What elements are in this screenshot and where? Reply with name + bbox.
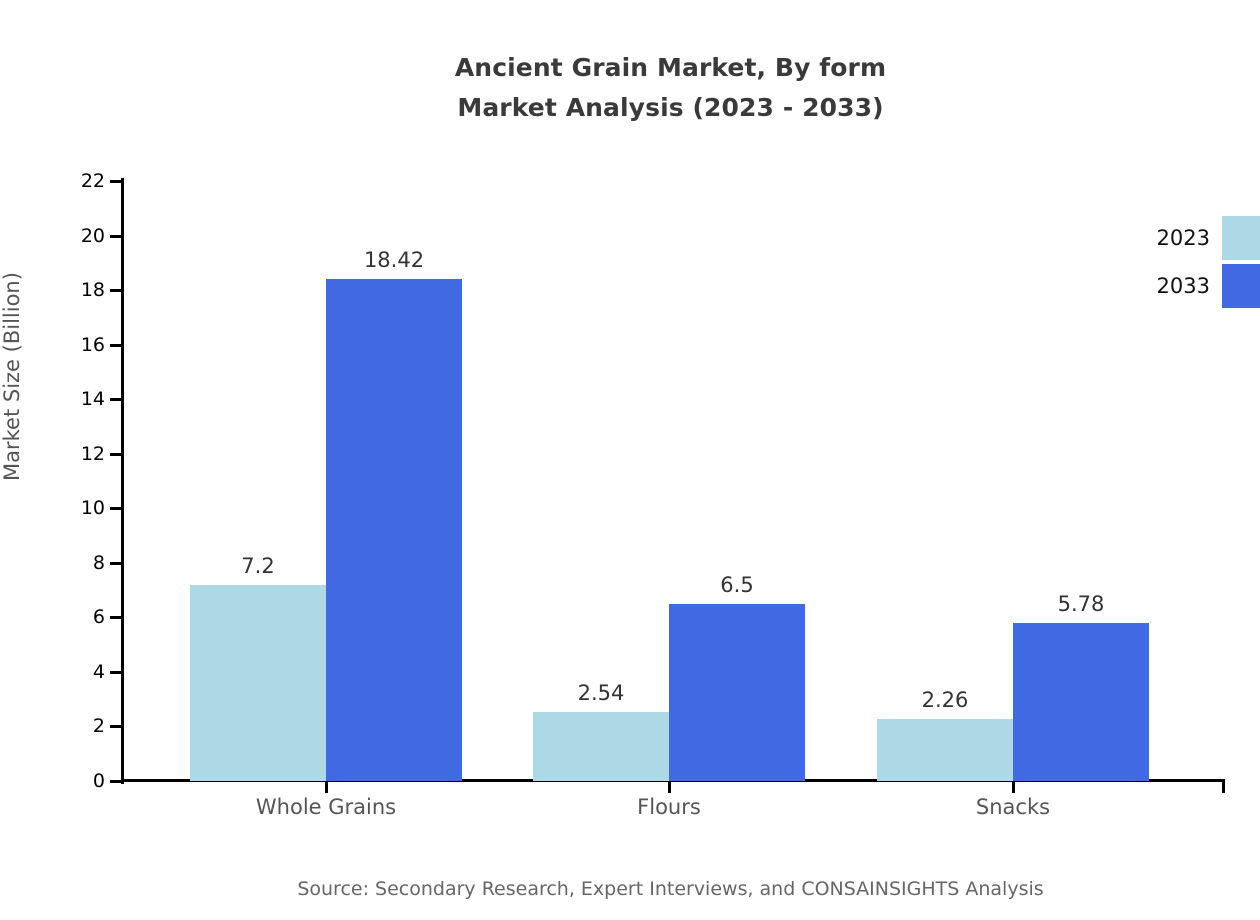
x-axis-end-tick <box>1222 782 1225 793</box>
y-axis-tick <box>110 562 121 565</box>
bar-2023-whole-grains[interactable] <box>190 585 326 781</box>
legend-swatch-2033 <box>1222 264 1260 308</box>
y-axis-tick-label: 6 <box>0 606 105 628</box>
chart-title-line-2: Market Analysis (2023 - 2033) <box>0 88 1260 128</box>
x-axis-category-label: Flours <box>637 795 701 819</box>
legend-label: 2033 <box>1157 274 1210 298</box>
y-axis-tick-label: 18 <box>0 279 105 301</box>
y-axis-tick-label: 8 <box>0 552 105 574</box>
source-note: Source: Secondary Research, Expert Inter… <box>0 878 1260 900</box>
y-axis-tick <box>110 453 121 456</box>
bar-2033-flours[interactable] <box>669 604 805 781</box>
x-axis-tick <box>325 782 328 793</box>
chart-title-line-1: Ancient Grain Market, By form <box>0 48 1260 88</box>
y-axis-tick-label: 4 <box>0 661 105 683</box>
legend-item-2023[interactable]: 2023 <box>1100 216 1260 260</box>
bar-value-label: 5.78 <box>1058 592 1105 616</box>
bar-value-label: 6.5 <box>720 573 753 597</box>
plot-area: 7.22.542.2618.426.55.78 <box>121 181 1222 781</box>
bar-2023-snacks[interactable] <box>877 719 1013 781</box>
bar-value-label: 18.42 <box>364 248 424 272</box>
y-axis-tick-label: 14 <box>0 388 105 410</box>
y-axis-tick <box>110 671 121 674</box>
y-axis-tick-label: 12 <box>0 443 105 465</box>
y-axis-tick <box>110 398 121 401</box>
y-axis-tick <box>110 235 121 238</box>
y-axis-tick <box>110 180 121 183</box>
x-axis-tick <box>1012 782 1015 793</box>
y-axis-tick-label: 0 <box>0 770 105 792</box>
y-axis-tick <box>110 725 121 728</box>
legend-label: 2023 <box>1157 226 1210 250</box>
y-axis-tick <box>110 289 121 292</box>
bar-value-label: 7.2 <box>241 554 274 578</box>
x-axis-category-label: Whole Grains <box>256 795 396 819</box>
chart-legend: 20232033 <box>1100 216 1260 312</box>
y-axis-tick <box>110 780 121 783</box>
bar-value-label: 2.26 <box>922 688 969 712</box>
bar-2033-snacks[interactable] <box>1013 623 1149 781</box>
x-axis-tick <box>668 782 671 793</box>
bar-2023-flours[interactable] <box>533 712 669 781</box>
x-axis-category-label: Snacks <box>976 795 1050 819</box>
y-axis-tick <box>110 344 121 347</box>
y-axis-tick-label: 20 <box>0 225 105 247</box>
y-axis-tick-label: 10 <box>0 497 105 519</box>
legend-swatch-2023 <box>1222 216 1260 260</box>
bar-value-label: 2.54 <box>578 681 625 705</box>
y-axis-tick-label: 2 <box>0 715 105 737</box>
y-axis-tick-label: 16 <box>0 334 105 356</box>
legend-item-2033[interactable]: 2033 <box>1100 264 1260 308</box>
chart-title: Ancient Grain Market, By form Market Ana… <box>0 48 1260 128</box>
y-axis-tick-label: 22 <box>0 170 105 192</box>
y-axis-tick <box>110 507 121 510</box>
bar-2033-whole-grains[interactable] <box>326 279 462 781</box>
y-axis-tick <box>110 616 121 619</box>
